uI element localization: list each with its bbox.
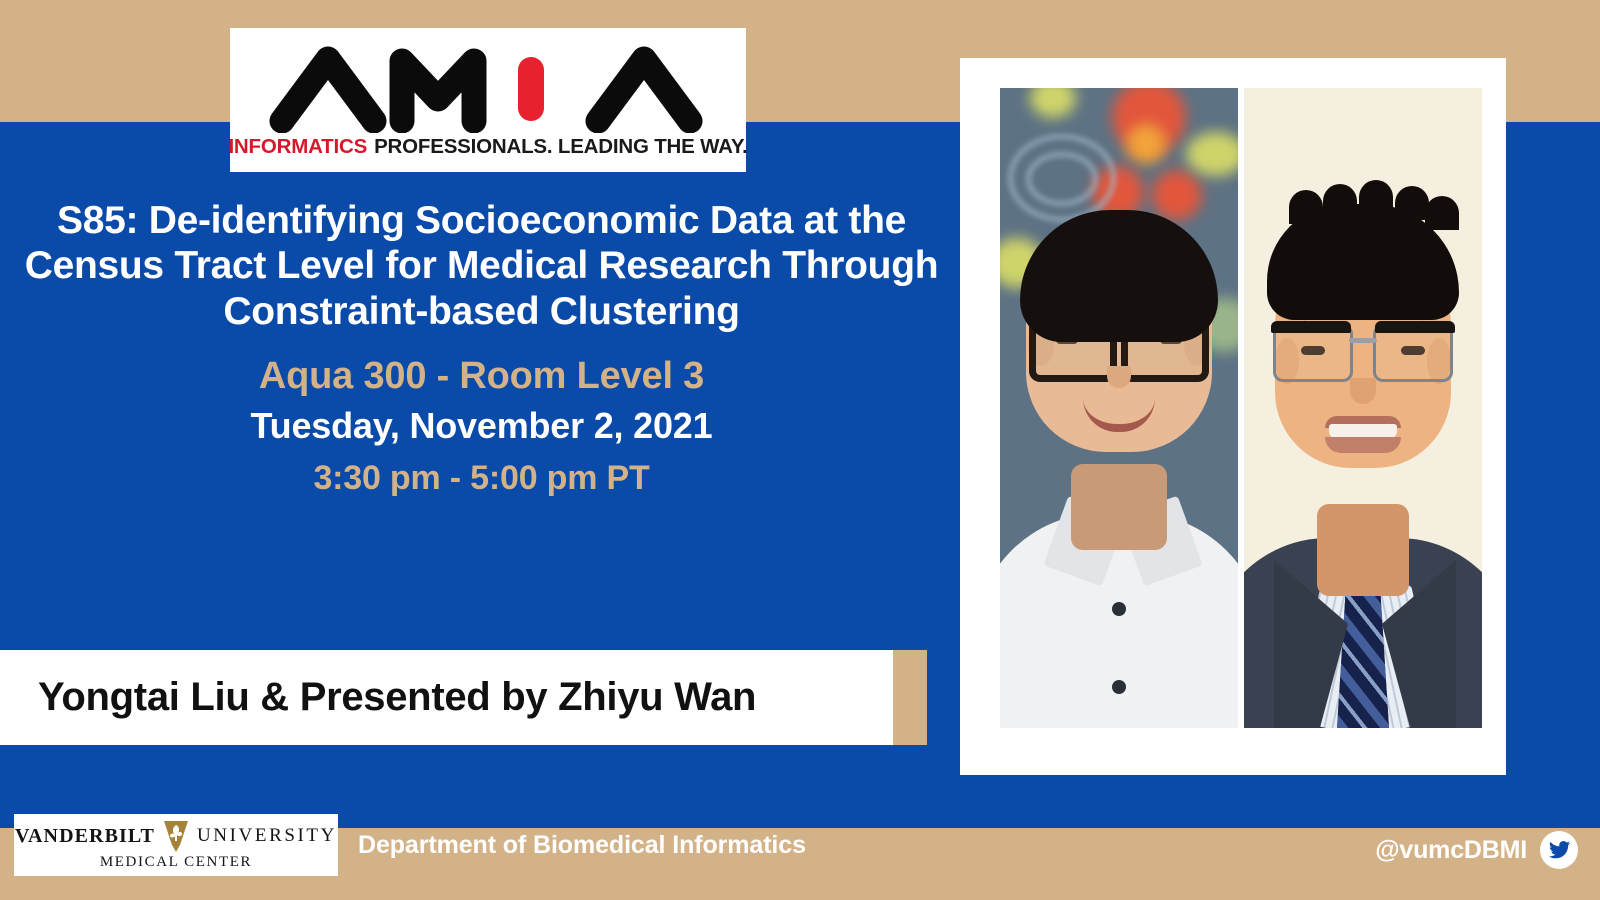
headshot-left [1000,88,1238,728]
twitter-group[interactable]: @vumcDBMI [1375,828,1578,872]
amia-logo: INFORMATICS PROFESSIONALS. LEADING THE W… [230,28,746,172]
vanderbilt-oak-leaf-icon [163,819,189,853]
presenter-names: Yongtai Liu & Presented by Zhiyu Wan [0,675,756,720]
twitter-bird-icon[interactable] [1540,831,1578,869]
amia-wordmark-icon [266,41,710,133]
headshot-left-button-bottom [1112,680,1126,694]
headshot-right [1244,88,1482,728]
headshot-right-lower-lip [1325,437,1401,453]
presenter-name-bar: Yongtai Liu & Presented by Zhiyu Wan [0,650,893,745]
headshot-right-neck [1317,504,1409,596]
headshot-left-mouth [1083,398,1155,432]
headshot-row [1000,88,1482,728]
session-room: Aqua 300 - Room Level 3 [0,354,963,399]
vanderbilt-logo-line-2: MEDICAL CENTER [100,854,252,871]
twitter-bird-glyph [1548,839,1571,862]
vanderbilt-logo-line-1: VANDERBILT UNIVERSITY [15,819,337,853]
headshot-right-glasses-icon [1273,324,1453,382]
headshot-left-button-top [1112,602,1126,616]
headshot-left-nose [1107,366,1131,388]
headshot-left-neck [1071,464,1167,550]
amia-tagline: INFORMATICS PROFESSIONALS. LEADING THE W… [228,135,747,159]
session-info-block: S85: De-identifying Socioeconomic Data a… [0,198,963,498]
amia-tagline-red: INFORMATICS [228,135,367,159]
department-name: Department of Biomedical Informatics [358,831,806,860]
poster-canvas: INFORMATICS PROFESSIONALS. LEADING THE W… [0,0,1600,900]
headshot-frame [960,58,1506,775]
twitter-handle[interactable]: @vumcDBMI [1375,836,1527,865]
session-title: S85: De-identifying Socioeconomic Data a… [0,198,963,334]
session-time: 3:30 pm - 5:00 pm PT [0,458,963,498]
vanderbilt-logo: VANDERBILT UNIVERSITY MEDICAL CENTER [14,814,338,876]
amia-tagline-black: PROFESSIONALS. LEADING THE WAY. [374,135,747,159]
vanderbilt-university-word: UNIVERSITY [197,825,337,847]
session-date: Tuesday, November 2, 2021 [0,405,963,447]
vanderbilt-word: VANDERBILT [15,825,155,848]
headshot-right-hair [1267,204,1459,320]
headshot-right-nose [1350,378,1376,404]
presenter-bar-accent [893,650,927,745]
